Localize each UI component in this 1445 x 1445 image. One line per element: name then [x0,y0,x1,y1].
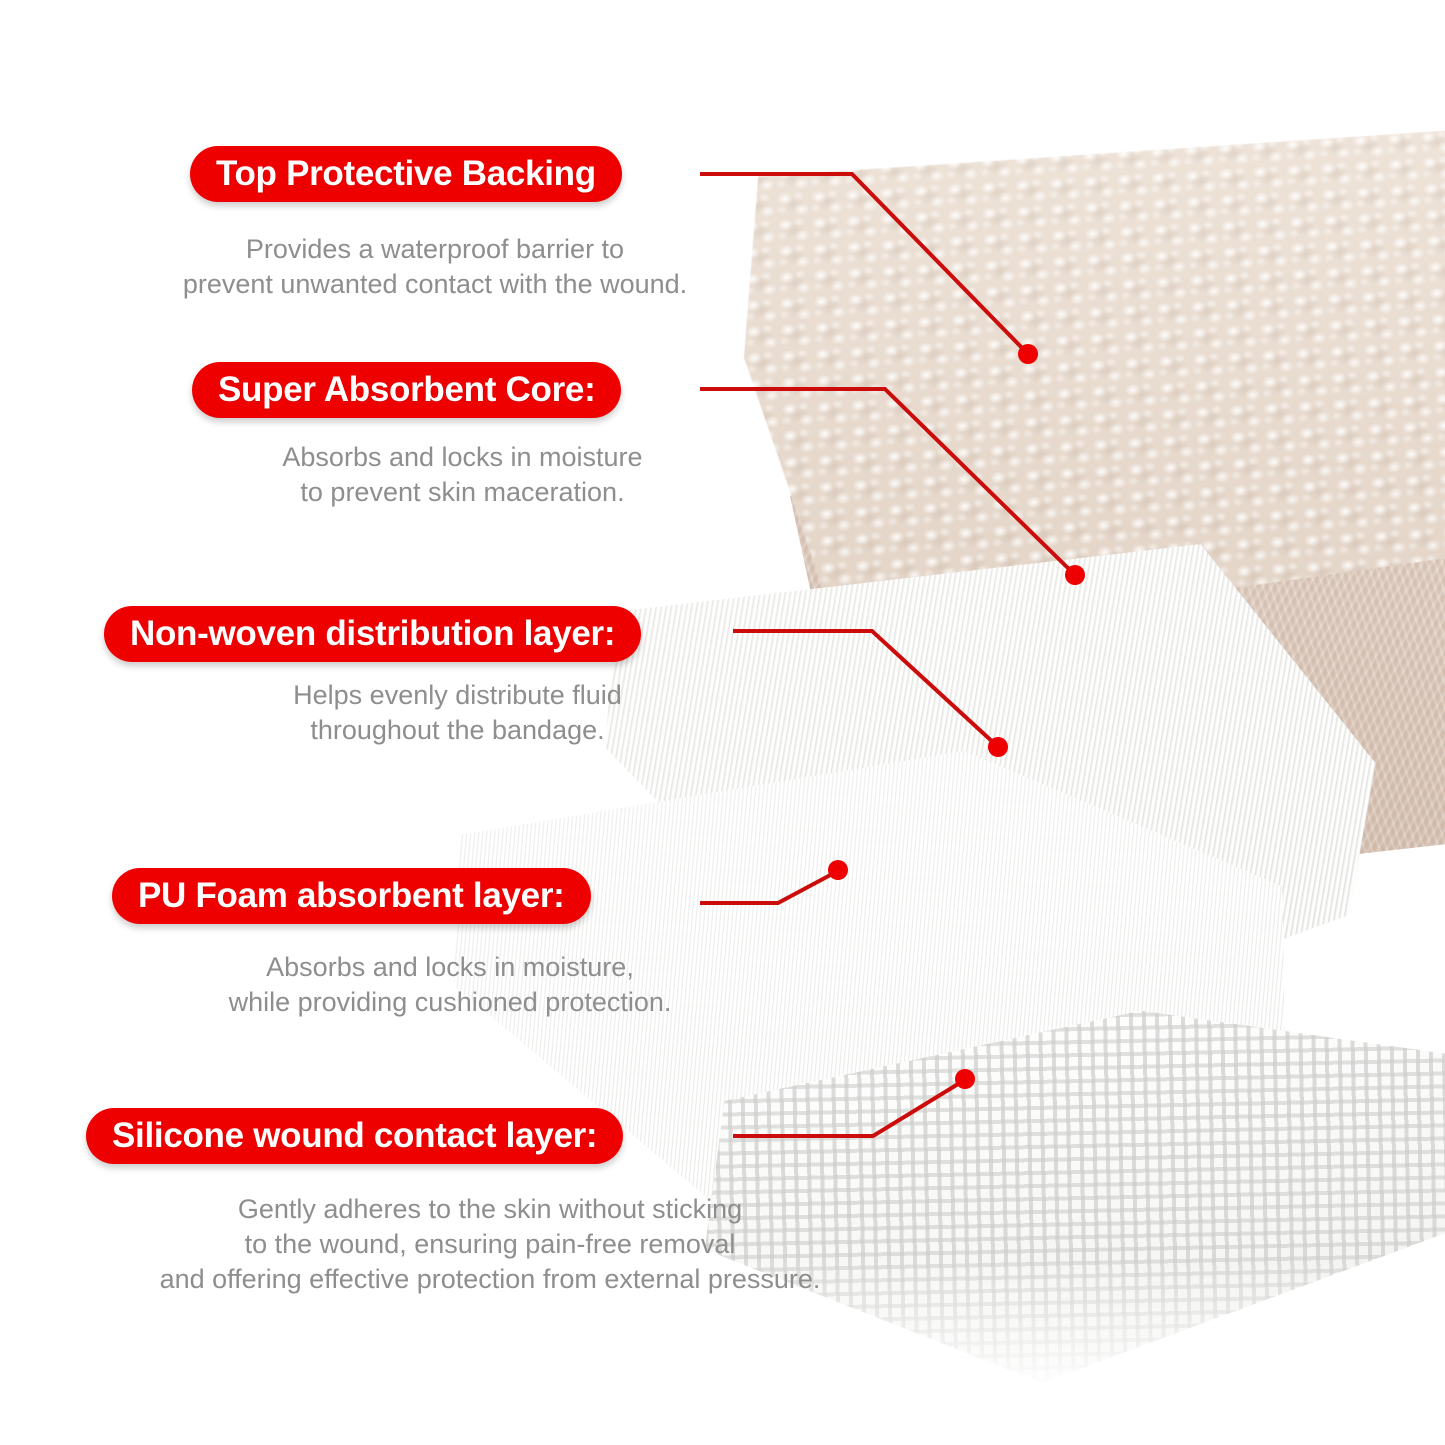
leader-line-pu-foam-absorbent-layer [700,860,848,903]
callout-description-super-absorbent-core: Absorbs and locks in moisture to prevent… [190,440,735,510]
callout-label-silicone-wound-contact-layer[interactable]: Silicone wound contact layer: [86,1108,623,1164]
callout-label-super-absorbent-core[interactable]: Super Absorbent Core: [192,362,621,418]
leader-line-top-protective-backing [700,174,1038,364]
callout-label-top-protective-backing[interactable]: Top Protective Backing [190,146,622,202]
leader-line-silicone-wound-contact-layer [733,1069,975,1136]
leader-line-non-woven-distribution-layer [733,631,1008,757]
callout-label-non-woven-distribution-layer[interactable]: Non-woven distribution layer: [104,606,641,662]
leader-line-super-absorbent-core [700,389,1085,585]
callout-description-pu-foam-absorbent-layer: Absorbs and locks in moisture, while pro… [140,950,760,1020]
callout-description-non-woven-distribution-layer: Helps evenly distribute fluid throughout… [180,678,735,748]
callout-description-top-protective-backing: Provides a waterproof barrier to prevent… [120,232,750,302]
callout-description-silicone-wound-contact-layer: Gently adheres to the skin without stick… [110,1192,870,1297]
callout-label-pu-foam-absorbent-layer[interactable]: PU Foam absorbent layer: [112,868,591,924]
infographic-canvas: Top Protective Backing Provides a waterp… [0,0,1445,1445]
